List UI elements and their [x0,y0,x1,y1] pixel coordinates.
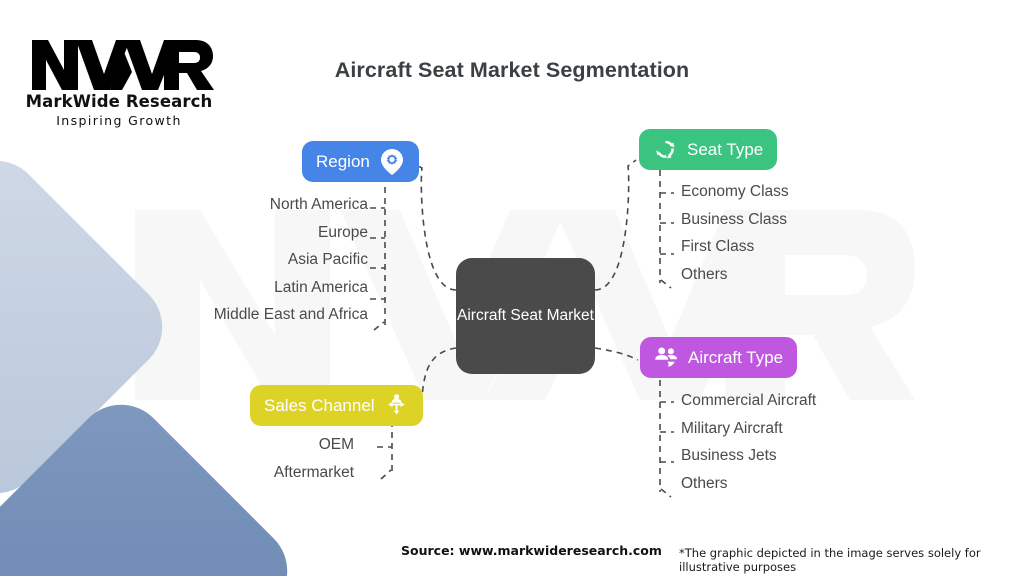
leaf-item: First Class [681,238,789,256]
leaf-item: Military Aircraft [681,420,816,438]
diagram-canvas: MarkWide Research Inspiring Growth Aircr… [0,0,1024,576]
center-node-label: Aircraft Seat Market [457,306,594,327]
leaf-item: Middle East and Africa [0,306,368,324]
branch-pill-seat-type[interactable]: Seat Type [639,129,777,170]
branch-label-region: Region [316,152,370,172]
branch-pill-aircraft-type[interactable]: Aircraft Type [640,337,797,378]
leaf-list-region: North America Europe Asia Pacific Latin … [0,196,368,334]
branch-label-seat-type: Seat Type [687,140,763,160]
leaf-item: Others [681,475,816,493]
leaf-item: Business Jets [681,447,816,465]
users-group-icon [654,346,679,369]
circular-arrows-icon [653,137,678,162]
leaf-item: Europe [0,224,368,242]
distribution-arrows-icon [384,393,409,418]
disclaimer-text: *The graphic depicted in the image serve… [679,546,1024,574]
leaf-item: Others [681,266,789,284]
leaf-item: North America [0,196,368,214]
leaf-list-seat-type: Economy Class Business Class First Class… [681,183,789,293]
source-text: Source: www.markwideresearch.com [401,543,662,558]
leaf-item: Commercial Aircraft [681,392,816,410]
leaf-item: OEM [0,436,354,454]
leaf-item: Aftermarket [0,464,354,482]
leaf-item: Latin America [0,279,368,297]
leaf-item: Economy Class [681,183,789,201]
leaf-item: Business Class [681,211,789,229]
leaf-list-aircraft-type: Commercial Aircraft Military Aircraft Bu… [681,392,816,502]
branch-label-sales-channel: Sales Channel [264,396,375,416]
branch-label-aircraft-type: Aircraft Type [688,348,783,368]
branch-pill-sales-channel[interactable]: Sales Channel [250,385,423,426]
location-pin-gear-icon [379,148,405,176]
center-node: Aircraft Seat Market [456,258,595,374]
branch-pill-region[interactable]: Region [302,141,419,182]
leaf-list-sales-channel: OEM Aftermarket [0,436,354,491]
leaf-item: Asia Pacific [0,251,368,269]
